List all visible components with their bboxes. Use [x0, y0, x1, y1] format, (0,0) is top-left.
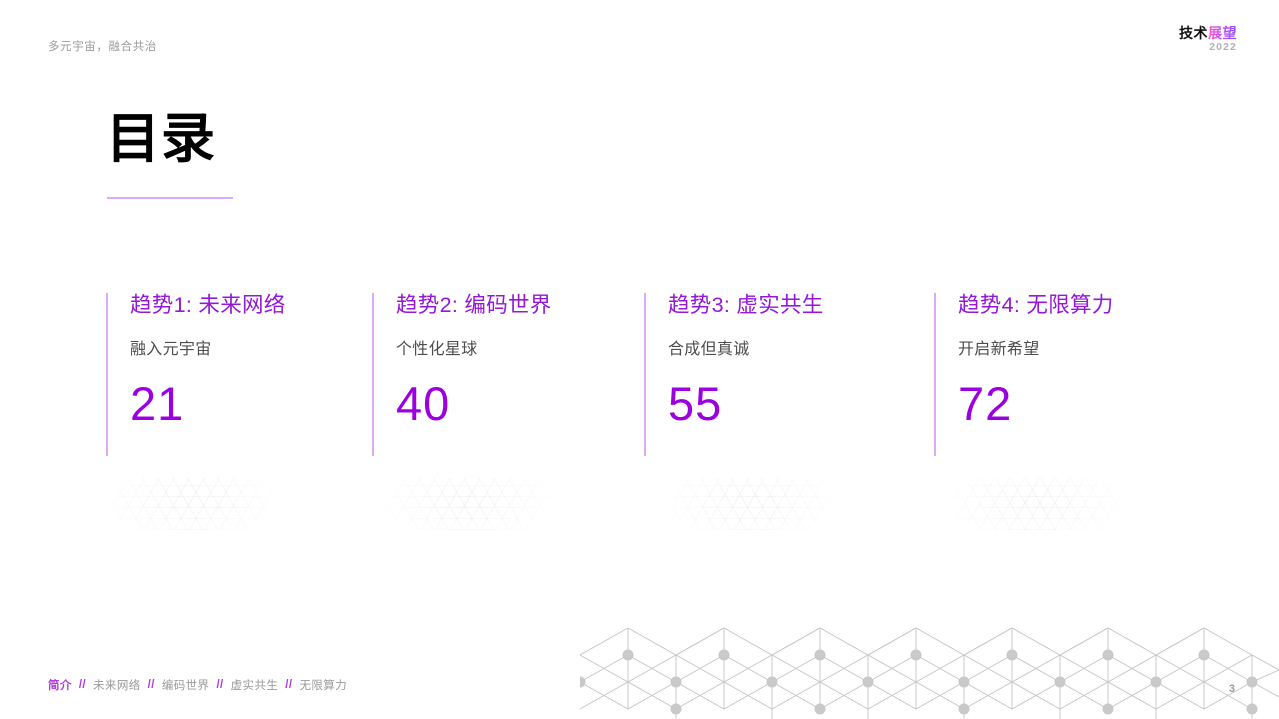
column-divider-rule	[644, 293, 646, 456]
column-divider-rule	[934, 293, 936, 456]
toc-entry-page-number: 55	[668, 380, 934, 427]
footer-nav-separator: //	[285, 679, 292, 691]
mesh-watermark-icon	[920, 478, 1160, 530]
footer-nav-item-future-network[interactable]: 未来网络	[93, 677, 141, 693]
footer-nav-item-intro[interactable]: 简介	[48, 677, 72, 693]
toc-entry-title: 趋势1: 未来网络	[130, 292, 372, 319]
column-divider-rule	[372, 293, 374, 456]
triangular-lattice-graphic	[580, 614, 1279, 719]
toc-entry-page-number: 21	[130, 380, 372, 427]
logo-year: 2022	[1179, 42, 1237, 53]
toc-entry-title: 趋势3: 虚实共生	[668, 292, 934, 319]
logo-text-gradient: 展望	[1208, 25, 1237, 41]
footer-nav-item-coded-world[interactable]: 编码世界	[162, 677, 210, 693]
footer-nav-separator: //	[216, 679, 223, 691]
toc-entry-title: 趋势4: 无限算力	[958, 292, 1196, 319]
toc-entry-title: 趋势2: 编码世界	[396, 292, 644, 319]
footer-nav-item-infinite-compute[interactable]: 无限算力	[299, 677, 347, 693]
toc-entry-3[interactable]: 趋势3: 虚实共生 合成但真诚 55	[644, 292, 934, 427]
logo-wordmark: 技术展望	[1179, 26, 1237, 41]
toc-entry-subtitle: 开启新希望	[958, 335, 1196, 359]
toc-entry-2[interactable]: 趋势2: 编码世界 个性化星球 40	[372, 292, 644, 427]
logo-text-dark: 技术	[1179, 25, 1208, 41]
header-subtitle: 多元宇宙，融合共治	[48, 38, 157, 54]
footer-nav-separator: //	[148, 679, 155, 691]
toc-entry-subtitle: 个性化星球	[396, 335, 644, 359]
mesh-watermark-icon	[358, 478, 586, 530]
toc-entry-subtitle: 融入元宇宙	[130, 335, 372, 359]
page-title: 目录	[106, 112, 216, 166]
toc-entry-page-number: 40	[396, 380, 644, 427]
toc-entry-1[interactable]: 趋势1: 未来网络 融入元宇宙 21	[106, 292, 372, 427]
toc-entry-4[interactable]: 趋势4: 无限算力 开启新希望 72	[934, 292, 1196, 427]
title-underline-rule	[107, 197, 233, 199]
mesh-watermark-icon	[82, 478, 310, 530]
toc-columns: 趋势1: 未来网络 融入元宇宙 21 趋势2: 编码世界 个性化星球 40 趋势…	[106, 292, 1196, 427]
footer-section-nav: 简介 // 未来网络 // 编码世界 // 虚实共生 // 无限算力	[48, 677, 347, 693]
toc-entry-page-number: 72	[958, 380, 1196, 427]
slide-canvas: 多元宇宙，融合共治 技术展望 2022 目录 趋势1: 未来网络 融入元宇宙 2…	[0, 0, 1279, 719]
footer-nav-item-virtual-real[interactable]: 虚实共生	[231, 677, 279, 693]
brand-logo: 技术展望 2022	[1179, 26, 1237, 53]
column-divider-rule	[106, 293, 108, 456]
footer-nav-separator: //	[79, 679, 86, 691]
toc-entry-subtitle: 合成但真诚	[668, 335, 934, 359]
mesh-watermark-icon	[640, 478, 870, 530]
slide-page-number: 3	[1229, 683, 1235, 695]
